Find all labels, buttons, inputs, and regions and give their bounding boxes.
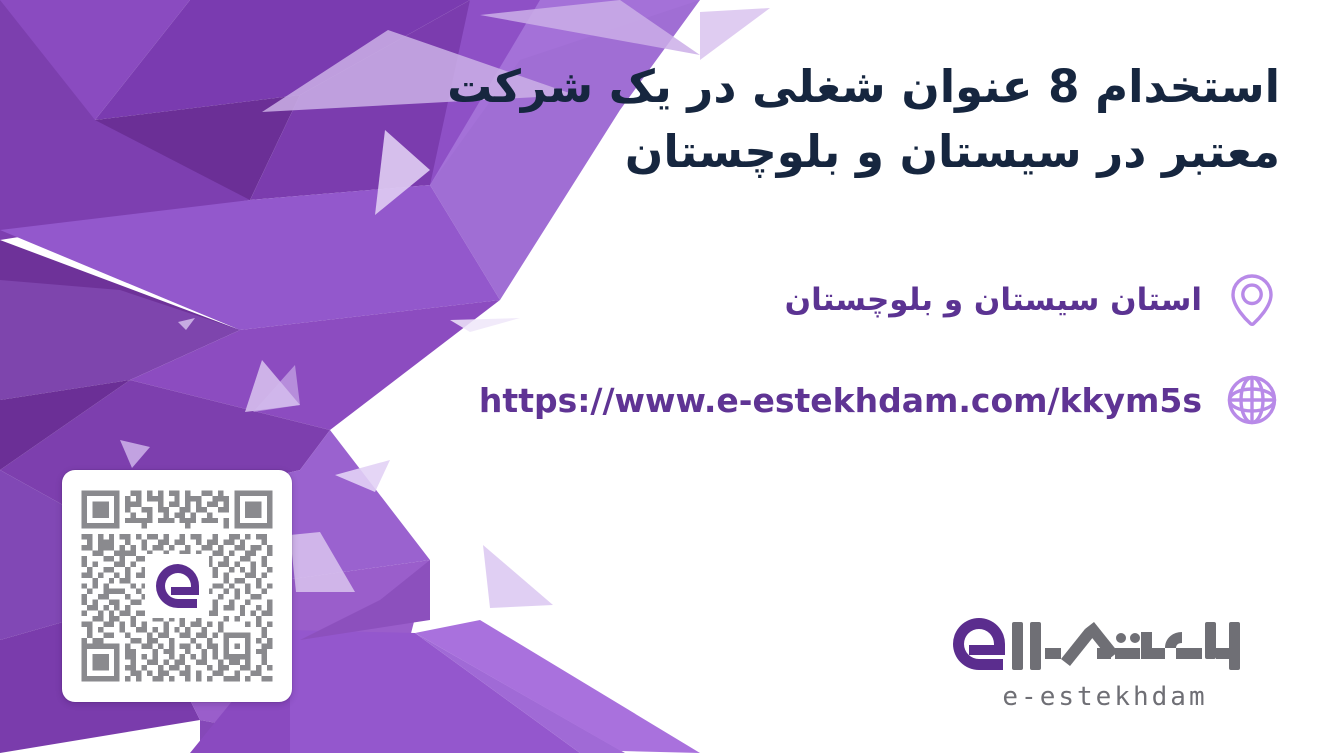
globe-icon [1224,372,1280,428]
qr-center-logo [145,554,209,618]
location-text: استان سیستان و بلوچستان [785,282,1202,318]
title-text: استخدام 8 عنوان شغلی در یک شرکت معتبر در… [340,54,1280,185]
brand-wordmark-icon [935,608,1275,680]
brand-logo: e-estekhdam [935,608,1275,712]
map-pin-icon [1224,272,1280,328]
promo-card: استخدام 8 عنوان شغلی در یک شرکت معتبر در… [0,0,1340,753]
qr-code[interactable] [62,470,292,702]
brand-subtitle: e-estekhdam [935,682,1275,712]
url-text[interactable]: https://www.e-estekhdam.com/kkym5s [479,381,1202,420]
location-row: استان سیستان و بلوچستان [785,272,1280,328]
page-title: استخدام 8 عنوان شغلی در یک شرکت معتبر در… [340,54,1280,185]
url-row[interactable]: https://www.e-estekhdam.com/kkym5s [479,372,1280,428]
